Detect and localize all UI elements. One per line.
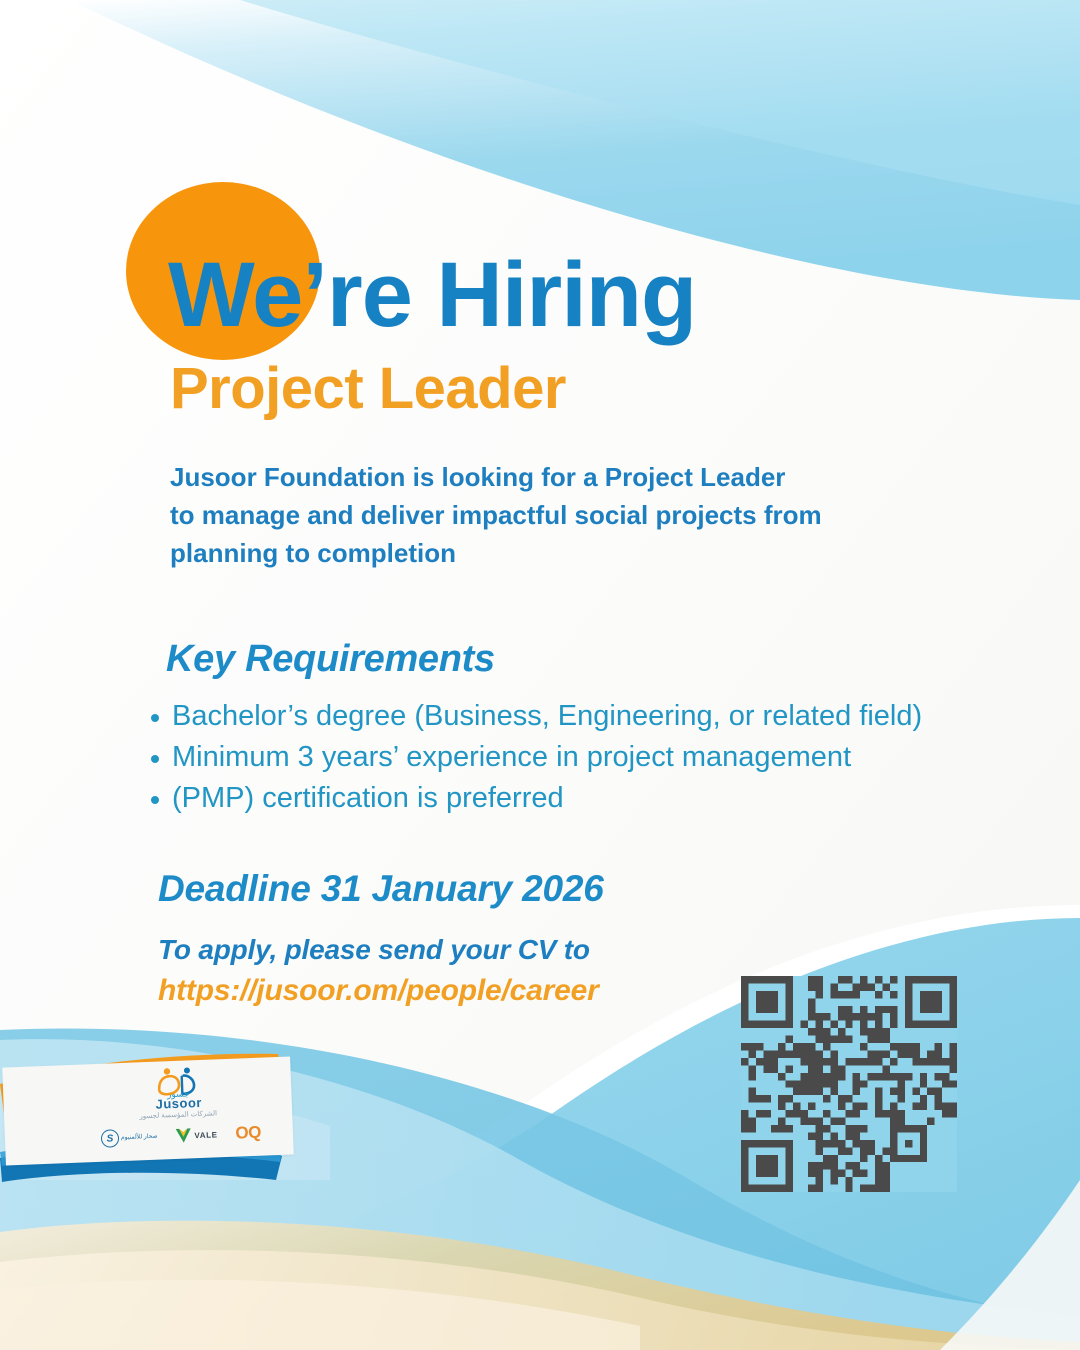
apply-instruction: To apply, please send your CV to — [158, 934, 590, 966]
sohar-arabic-label: صحار للألمنيوم — [121, 1133, 158, 1141]
list-item: (PMP) certification is preferred — [146, 778, 996, 819]
list-item: Minimum 3 years’ experience in project m… — [146, 737, 996, 778]
vale-wordmark: VALE — [194, 1130, 217, 1140]
bullet-icon — [151, 755, 159, 763]
requirement-text: Minimum 3 years’ experience in project m… — [172, 741, 851, 773]
jusoor-logo-card: جسور Jusoor الشركات المؤسسة لجسور S صحار… — [2, 1057, 294, 1166]
requirements-heading: Key Requirements — [166, 638, 495, 681]
bullet-icon — [151, 796, 159, 804]
intro-line-2: to manage and deliver impactful social p… — [170, 497, 900, 535]
partner-logos-row: S صحار للألمنيوم VALE OQ — [101, 1120, 262, 1152]
partner-logo-vale: VALE — [175, 1126, 218, 1144]
intro-paragraph: Jusoor Foundation is looking for a Proje… — [170, 459, 900, 573]
partners-arabic-label: الشركات المؤسسة لجسور — [108, 1109, 248, 1121]
requirements-list: Bachelor’s degree (Business, Engineering… — [146, 696, 996, 820]
bullet-icon — [151, 714, 159, 722]
sohar-s-icon: S — [101, 1129, 120, 1148]
job-title: Project Leader — [170, 360, 566, 418]
qr-code[interactable] — [741, 976, 957, 1192]
deadline-text: Deadline 31 January 2026 — [158, 868, 604, 910]
requirement-text: (PMP) certification is preferred — [172, 782, 564, 814]
page-title: We’re Hiring — [168, 249, 696, 341]
list-item: Bachelor’s degree (Business, Engineering… — [146, 696, 996, 737]
oq-wordmark: OQ — [235, 1123, 261, 1144]
intro-line-3: planning to completion — [170, 535, 900, 573]
poster-root: We’re Hiring Project Leader Jusoor Found… — [0, 0, 1080, 1350]
apply-url-link[interactable]: https://jusoor.om/people/career — [158, 974, 599, 1008]
intro-line-1: Jusoor Foundation is looking for a Proje… — [170, 459, 900, 497]
vale-check-icon — [175, 1127, 193, 1144]
jusoor-brand-latin: Jusoor — [143, 1095, 215, 1111]
partner-logo-sohar: S صحار للألمنيوم — [101, 1128, 158, 1148]
requirement-text: Bachelor’s degree (Business, Engineering… — [172, 700, 922, 732]
